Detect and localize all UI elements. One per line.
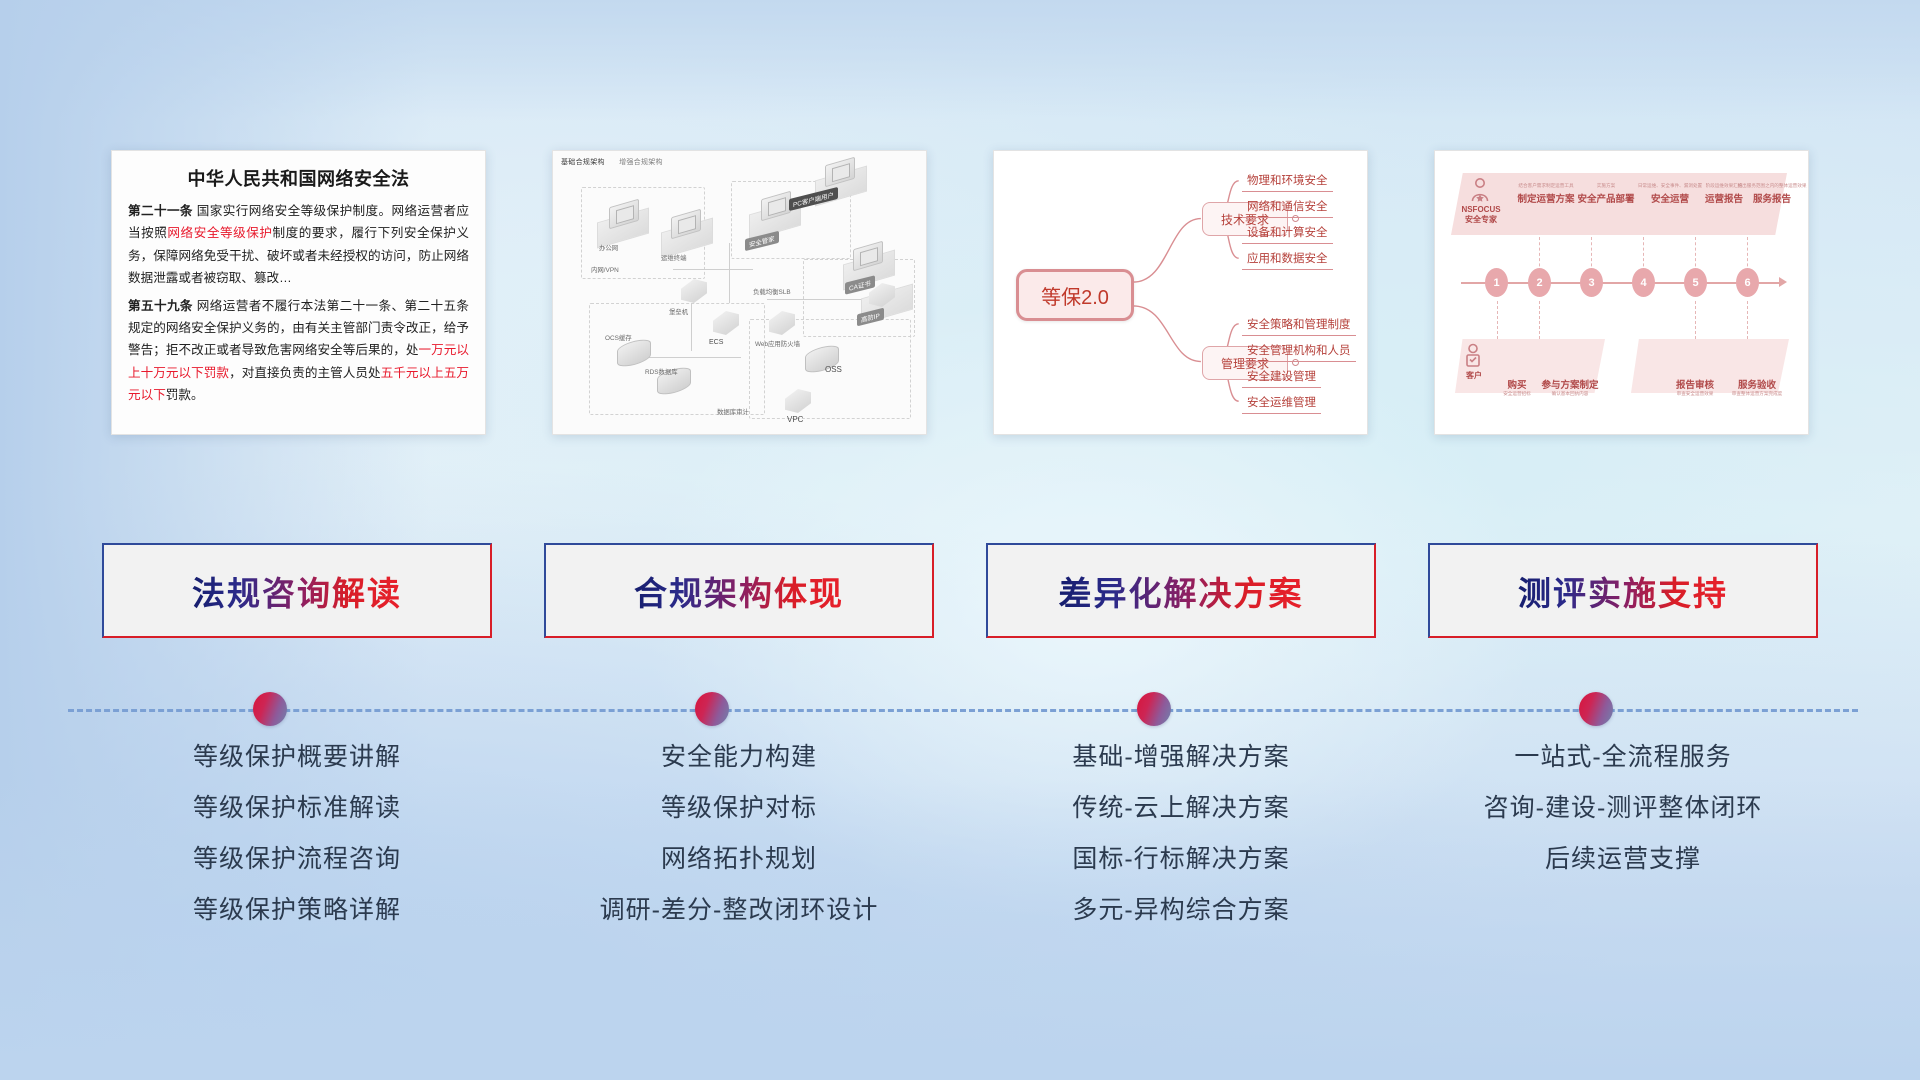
- detail-item: 一站式-全流程服务: [1428, 745, 1818, 770]
- lower-step-3-main: 报告审核: [1661, 377, 1729, 391]
- lower-step-4-main: 服务验收: [1723, 377, 1791, 391]
- upper-step-5-sub: 给出服务范围之内的整体运营效果: [1735, 183, 1809, 189]
- card-architecture-diagram[interactable]: 基础合规架构 增强合规架构 办公网 内网/VPN 安全: [552, 150, 927, 435]
- detail-item: 多元-异构综合方案: [986, 898, 1376, 923]
- detail-item: 咨询-建设-测评整体闭环: [1428, 796, 1818, 821]
- law-article-59-run-2: ，对直接负责的主管人员处: [229, 366, 381, 380]
- brand-name: NSFOCUS: [1455, 205, 1507, 215]
- mind-map-root-node[interactable]: 等保2.0: [1016, 269, 1134, 321]
- brand-role: 安全专家: [1455, 215, 1507, 225]
- lower-step-2: 参与方案制定 确认基本回执内容: [1531, 375, 1609, 397]
- heading-box-differentiated-solution[interactable]: 差异化解决方案: [986, 543, 1376, 638]
- architecture-label-waf: 负载均衡SLB: [749, 285, 795, 297]
- lower-step-4: 服务验收 审查整体运营方案完成度: [1723, 375, 1791, 397]
- law-article-21-highlight: 网络安全等级保护: [167, 226, 272, 240]
- detail-item: 国标-行标解决方案: [986, 847, 1376, 872]
- law-article-59-number: 第五十九条: [128, 299, 193, 313]
- detail-item: 等级保护流程咨询: [102, 847, 492, 872]
- slide-root: 中华人民共和国网络安全法 第二十一条 国家实行网络安全等级保护制度。网络运营者应…: [0, 0, 1920, 1080]
- timeline-step-number-4: 4: [1632, 268, 1655, 297]
- lower-step-4-sub: 审查整体运营方案完成度: [1723, 391, 1791, 397]
- detail-item: 安全能力构建: [544, 745, 934, 770]
- service-timeline-canvas: NSFOCUS 安全专家 结合客户需求制定运营工具 制定运营方案 实施方案 安全…: [1435, 151, 1808, 434]
- architecture-canvas: 基础合规架构 增强合规架构 办公网 内网/VPN 安全: [553, 151, 926, 434]
- detail-column-differentiated-solution: 基础-增强解决方案 传统-云上解决方案 国标-行标解决方案 多元-异构综合方案: [986, 745, 1376, 995]
- architecture-wire-5: [645, 357, 741, 358]
- timeline-step-number-1: 1: [1485, 268, 1508, 297]
- timeline-connector: [0, 690, 1920, 730]
- mind-map-leaf-policy: 安全策略和管理制度: [1242, 315, 1356, 336]
- detail-item: 网络拓扑规划: [544, 847, 934, 872]
- architecture-label-ocs: OCS缓存: [601, 331, 636, 343]
- architecture-label-rds: RDS数据库: [641, 365, 682, 377]
- architecture-tab-enhanced[interactable]: 增强合规架构: [619, 159, 663, 166]
- card-law-document[interactable]: 中华人民共和国网络安全法 第二十一条 国家实行网络安全等级保护制度。网络运营者应…: [111, 150, 486, 435]
- timeline-step-number-2: 2: [1528, 268, 1551, 297]
- client-label: 客户: [1457, 371, 1491, 381]
- detail-column-regulation-consulting: 等级保护概要讲解 等级保护标准解读 等级保护流程咨询 等级保护策略详解: [102, 745, 492, 995]
- heading-box-regulation-consulting[interactable]: 法规咨询解读: [102, 543, 492, 638]
- card-service-timeline[interactable]: NSFOCUS 安全专家 结合客户需求制定运营工具 制定运营方案 实施方案 安全…: [1434, 150, 1809, 435]
- detail-item: 等级保护标准解读: [102, 796, 492, 821]
- timeline-node-1[interactable]: [253, 692, 287, 726]
- client-avatar-icon: [1463, 343, 1483, 372]
- architecture-label-db-audit: 数据库审计: [713, 405, 753, 417]
- timeline-tick-lower-3: [1695, 301, 1696, 339]
- architecture-label-bastion: 堡垒机: [665, 305, 692, 317]
- mind-map-canvas: 等保2.0 技术要求 物理和环境安全 网络和通信安全 设备和计算安全 应用和数据…: [994, 151, 1367, 434]
- upper-step-5: 给出服务范围之内的整体运营效果 服务报告: [1735, 183, 1809, 205]
- heading-label-compliance-architecture: 合规架构体现: [634, 567, 844, 615]
- detail-item: 调研-差分-整改闭环设计: [544, 898, 934, 923]
- architecture-label-ecs: ECS: [705, 337, 727, 347]
- architecture-label-office-net: 办公网: [595, 241, 622, 253]
- timeline-tick-lower-2: [1539, 301, 1540, 339]
- timeline-node-4[interactable]: [1579, 692, 1613, 726]
- lower-step-2-sub: 确认基本回执内容: [1531, 391, 1609, 397]
- mind-map-leaf-physical: 物理和环境安全: [1242, 171, 1333, 192]
- detail-item: 等级保护对标: [544, 796, 934, 821]
- architecture-tabs[interactable]: 基础合规架构 增强合规架构: [561, 157, 675, 167]
- mind-map-leaf-network: 网络和通信安全: [1242, 197, 1333, 218]
- law-document-body: 中华人民共和国网络安全法 第二十一条 国家实行网络安全等级保护制度。网络运营者应…: [112, 151, 485, 420]
- timeline-arrow-icon: [1779, 277, 1787, 287]
- timeline-tick-lower-1: [1497, 301, 1498, 339]
- detail-item: 等级保护策略详解: [102, 898, 492, 923]
- law-article-21-number: 第二十一条: [128, 204, 193, 218]
- detail-item: 后续运营支撑: [1428, 847, 1818, 872]
- law-article-21: 第二十一条 国家实行网络安全等级保护制度。网络运营者应当按照网络安全等级保护制度…: [128, 200, 469, 290]
- preview-cards-row: 中华人民共和国网络安全法 第二十一条 国家实行网络安全等级保护制度。网络运营者应…: [0, 150, 1920, 450]
- architecture-label-slb: Web应用防火墙: [751, 337, 804, 349]
- timeline-axis: [1461, 282, 1779, 284]
- law-article-59: 第五十九条 网络运营者不履行本法第二十一条、第二十五条规定的网络安全保护义务的，…: [128, 295, 469, 407]
- mind-map-leaf-device: 设备和计算安全: [1242, 223, 1333, 244]
- mind-map-leaf-organization: 安全管理机构和人员: [1242, 341, 1356, 362]
- law-document-title: 中华人民共和国网络安全法: [128, 165, 469, 191]
- heading-box-compliance-architecture[interactable]: 合规架构体现: [544, 543, 934, 638]
- architecture-tab-basic[interactable]: 基础合规架构: [561, 159, 605, 166]
- timeline-step-number-3: 3: [1580, 268, 1603, 297]
- architecture-wire-4: [767, 299, 863, 300]
- timeline-node-3[interactable]: [1137, 692, 1171, 726]
- lower-step-3-sub: 审查安全运营效果: [1661, 391, 1729, 397]
- heading-label-assessment-support: 测评实施支持: [1518, 567, 1728, 615]
- architecture-label-oss: OSS: [821, 363, 846, 375]
- lower-step-2-main: 参与方案制定: [1531, 377, 1609, 391]
- timeline-node-2[interactable]: [695, 692, 729, 726]
- detail-item: 基础-增强解决方案: [986, 745, 1376, 770]
- lower-step-3: 报告审核 审查安全运营效果: [1661, 375, 1729, 397]
- heading-label-differentiated-solution: 差异化解决方案: [1059, 567, 1304, 615]
- heading-label-regulation-consulting: 法规咨询解读: [192, 567, 402, 615]
- heading-box-assessment-support[interactable]: 测评实施支持: [1428, 543, 1818, 638]
- card-mind-map[interactable]: 等保2.0 技术要求 物理和环境安全 网络和通信安全 设备和计算安全 应用和数据…: [993, 150, 1368, 435]
- headings-row: 法规咨询解读 合规架构体现 差异化解决方案 测评实施支持: [0, 543, 1920, 643]
- expert-avatar-icon: [1469, 177, 1491, 208]
- detail-item: 等级保护概要讲解: [102, 745, 492, 770]
- detail-columns-row: 等级保护概要讲解 等级保护标准解读 等级保护流程咨询 等级保护策略详解 安全能力…: [0, 745, 1920, 995]
- architecture-label-vpc: VPC: [783, 413, 807, 425]
- brand-label: NSFOCUS 安全专家: [1455, 205, 1507, 225]
- detail-column-assessment-support: 一站式-全流程服务 咨询-建设-测评整体闭环 后续运营支撑: [1428, 745, 1818, 995]
- mind-map-leaf-application: 应用和数据安全: [1242, 249, 1333, 270]
- timeline-step-number-5: 5: [1684, 268, 1707, 297]
- detail-column-compliance-architecture: 安全能力构建 等级保护对标 网络拓扑规划 调研-差分-整改闭环设计: [544, 745, 934, 995]
- upper-step-5-main: 服务报告: [1735, 191, 1809, 205]
- architecture-label-vpn: 内网/VPN: [587, 263, 623, 275]
- timeline-tick-lower-4: [1747, 301, 1748, 339]
- timeline-step-number-6: 6: [1736, 268, 1759, 297]
- detail-item: 传统-云上解决方案: [986, 796, 1376, 821]
- mind-map-leaf-construction: 安全建设管理: [1242, 367, 1321, 388]
- architecture-label-ops-terminal: 运维终端: [657, 251, 691, 263]
- architecture-wire-1: [673, 269, 753, 270]
- architecture-wire-2: [729, 243, 730, 303]
- mind-map-leaf-operation: 安全运维管理: [1242, 393, 1321, 414]
- architecture-node-bastion: [681, 276, 707, 306]
- law-article-59-run-4: 罚款。: [166, 388, 204, 402]
